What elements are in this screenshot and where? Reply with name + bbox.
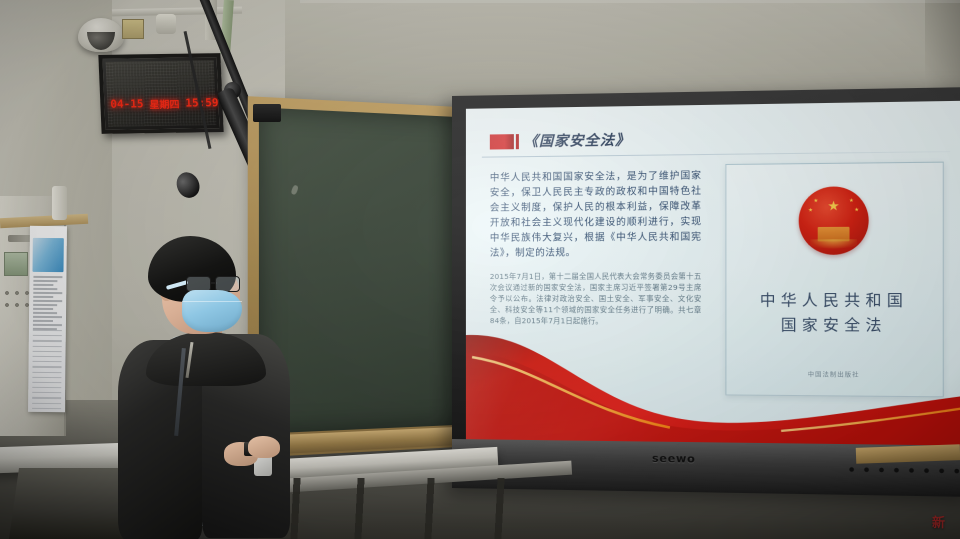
- slide-title: 《国家安全法》: [524, 129, 631, 151]
- chalkboard-top-clip: [253, 104, 281, 122]
- book-title-line-1: 中华人民共和国: [726, 288, 942, 313]
- slide-title-rule: [482, 151, 950, 158]
- slide-paragraph-1: 中华人民共和国国家安全法，是为了维护国家安全，保卫人民民主专政的政权和中国特色社…: [490, 168, 702, 261]
- emblem-small-star-2: ★: [808, 208, 813, 213]
- image-watermark: 新: [932, 512, 946, 531]
- speaker-grille: [844, 465, 960, 476]
- emblem-small-star-4: ★: [854, 208, 859, 213]
- emblem-small-star-1: ★: [813, 199, 818, 204]
- surgical-mask: [182, 290, 242, 332]
- chalk-mark: [290, 185, 298, 196]
- person-hand-right: [248, 436, 280, 458]
- led-weekday: 星期四: [149, 96, 180, 111]
- slide-text-column: 中华人民共和国国家安全法，是为了维护国家安全，保卫人民民主专政的政权和中国特色社…: [490, 168, 702, 326]
- red-wave-graphic: [466, 327, 960, 446]
- pipe-fitting: [156, 14, 176, 34]
- poster-body-lines: [33, 276, 63, 332]
- red-flag-icon: [490, 134, 514, 149]
- panel-screen[interactable]: 《国家安全法》 中华人民共和国国家安全法，是为了维护国家安全，保卫人民民主专政的…: [466, 101, 960, 446]
- poster-header-title: [60, 246, 62, 251]
- ac-control-panel[interactable]: [4, 252, 28, 276]
- chair-legs: [284, 478, 527, 539]
- classroom-scene: 04-15 星期四 15:59: [0, 0, 960, 539]
- wall-socket-box: [122, 19, 144, 39]
- slide-title-row: 《国家安全法》: [490, 129, 631, 151]
- dome-camera-icon: [78, 18, 124, 52]
- national-emblem-icon: ★ ★ ★ ★ ★: [799, 186, 869, 255]
- presentation-slide: 《国家安全法》 中华人民共和国国家安全法，是为了维护国家安全，保卫人民民主专政的…: [466, 101, 960, 446]
- presenter-person: [104, 236, 304, 539]
- wall-instruction-poster: [28, 226, 67, 412]
- poster-table-lines: [32, 330, 62, 412]
- led-date: 04-15: [110, 97, 144, 111]
- poster-header-banner: [32, 238, 63, 272]
- interactive-flat-panel[interactable]: 《国家安全法》 中华人民共和国国家安全法，是为了维护国家安全，保卫人民民主专政的…: [452, 87, 960, 497]
- ac-vent-holes: [2, 288, 32, 314]
- emblem-big-star: ★: [827, 199, 839, 213]
- wall-tube-fixture: [52, 186, 67, 220]
- seewo-brand-logo: seewo: [652, 452, 696, 466]
- emblem-small-star-3: ★: [849, 199, 854, 204]
- red-wave-svg: [466, 327, 960, 446]
- person-hands: [224, 436, 282, 472]
- slide-paragraph-2: 2015年7月1日，第十二届全国人民代表大会常务委员会第十五次会议通过新的国家安…: [490, 271, 702, 327]
- ceiling-seam: [300, 0, 960, 3]
